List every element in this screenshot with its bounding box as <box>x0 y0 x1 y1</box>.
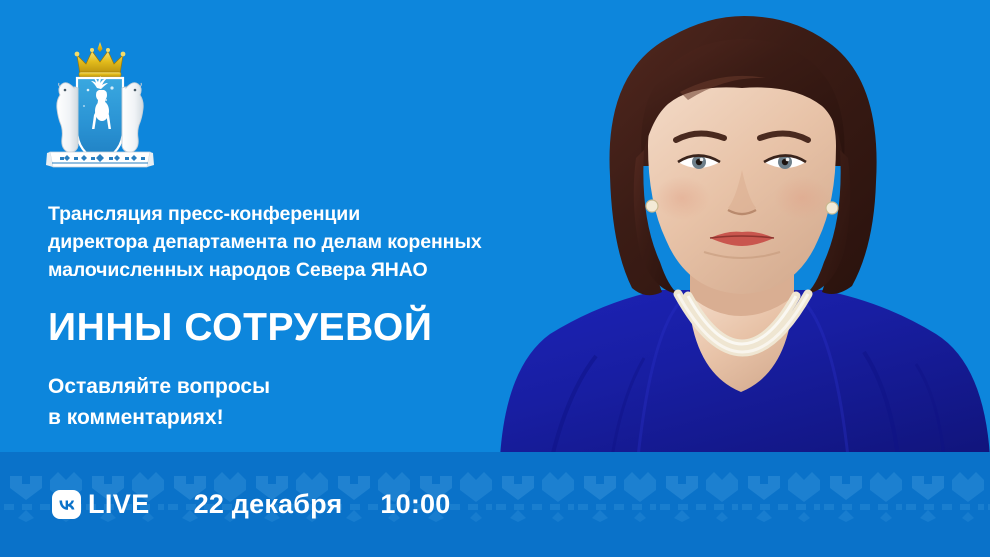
event-info-bar: LIVE 22 декабря 10:00 <box>0 452 990 557</box>
event-time: 10:00 <box>380 490 450 519</box>
speaker-name-headline: ИННЫ СОТРУЕВОЙ <box>48 305 432 351</box>
cta-line-1: Оставляйте вопросы <box>48 371 270 402</box>
earring-left <box>646 200 658 212</box>
call-to-action-text: Оставляйте вопросы в комментариях! <box>48 371 270 433</box>
coat-of-arms-icon <box>44 38 156 170</box>
polar-bear-left-icon <box>57 83 78 153</box>
vk-logo-icon[interactable] <box>52 490 81 519</box>
coat-of-arms-emblem <box>44 38 156 170</box>
cta-line-2: в комментариях! <box>48 402 270 433</box>
polar-bear-right-icon <box>122 83 143 153</box>
earring-right <box>826 202 838 214</box>
live-label: LIVE <box>88 490 150 519</box>
shield-icon <box>77 76 123 162</box>
portrait-inna-sotrueva <box>492 0 990 457</box>
live-stream-announcement-banner: Трансляция пресс-конференции директора д… <box>0 0 990 557</box>
vk-glyph-icon <box>56 494 78 516</box>
ribbon-icon <box>46 152 154 167</box>
portrait-photo <box>492 0 990 457</box>
bar-content-row: LIVE 22 декабря 10:00 <box>52 452 450 557</box>
crown-icon <box>75 42 126 77</box>
event-date: 22 декабря <box>194 490 343 519</box>
